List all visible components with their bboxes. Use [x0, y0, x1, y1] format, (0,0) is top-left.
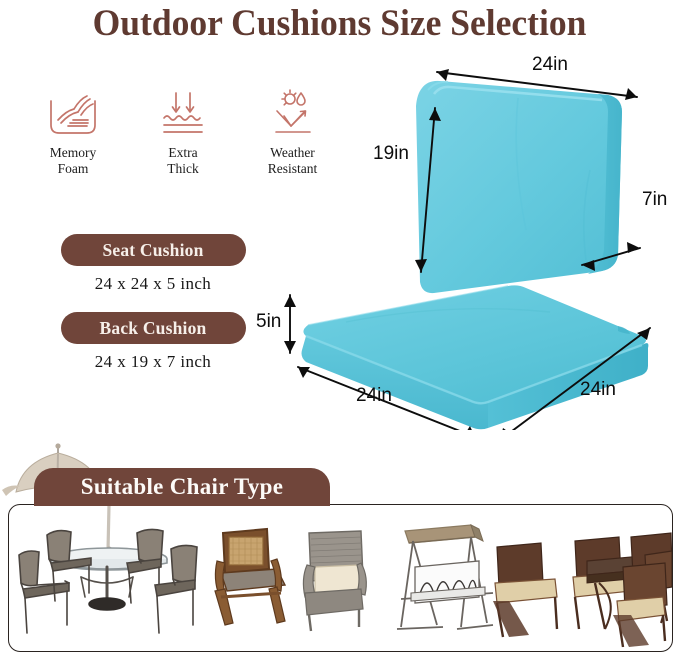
feature-label: Extra Thick: [128, 145, 238, 177]
wicker-dining-set: [493, 533, 672, 647]
infographic-root: Outdoor Cushions Size Selection: [0, 0, 679, 656]
wicker-armchair: [303, 531, 366, 631]
dimension-seat-front: 24in: [356, 385, 392, 407]
downward-arrows-layers-icon: [128, 84, 238, 142]
dimension-seat-depth: 24in: [580, 379, 616, 401]
spec-value-seat-cushion: 24 x 24 x 5 inch: [28, 274, 278, 294]
dimension-back-thickness: 7in: [642, 189, 667, 211]
dimension-back-width: 24in: [532, 54, 568, 76]
spec-value-back-cushion: 24 x 19 x 7 inch: [28, 352, 278, 372]
hand-pressing-foam-icon: [18, 84, 128, 142]
cushion-illustration: 24in 19in 7in 5in 24in 24in: [250, 50, 679, 430]
cushion-drawing: [250, 50, 679, 430]
feature-extra-thick: Extra Thick: [128, 84, 238, 177]
porch-swing: [397, 525, 493, 629]
page-title: Outdoor Cushions Size Selection: [14, 2, 666, 45]
feature-label: Memory Foam: [18, 145, 128, 177]
suitable-chair-type-banner: Suitable Chair Type: [34, 468, 330, 506]
spec-list: Seat Cushion 24 x 24 x 5 inch Back Cushi…: [28, 234, 278, 372]
chair-type-illustrations: [9, 505, 672, 651]
feature-memory-foam: Memory Foam: [18, 84, 128, 177]
dimension-seat-height: 5in: [256, 311, 281, 333]
badge-back-cushion: Back Cushion: [61, 312, 246, 344]
wooden-lounge-chair: [215, 529, 285, 625]
badge-seat-cushion: Seat Cushion: [61, 234, 246, 266]
suitable-chair-panel: [8, 504, 673, 652]
dimension-back-height: 19in: [373, 143, 409, 165]
